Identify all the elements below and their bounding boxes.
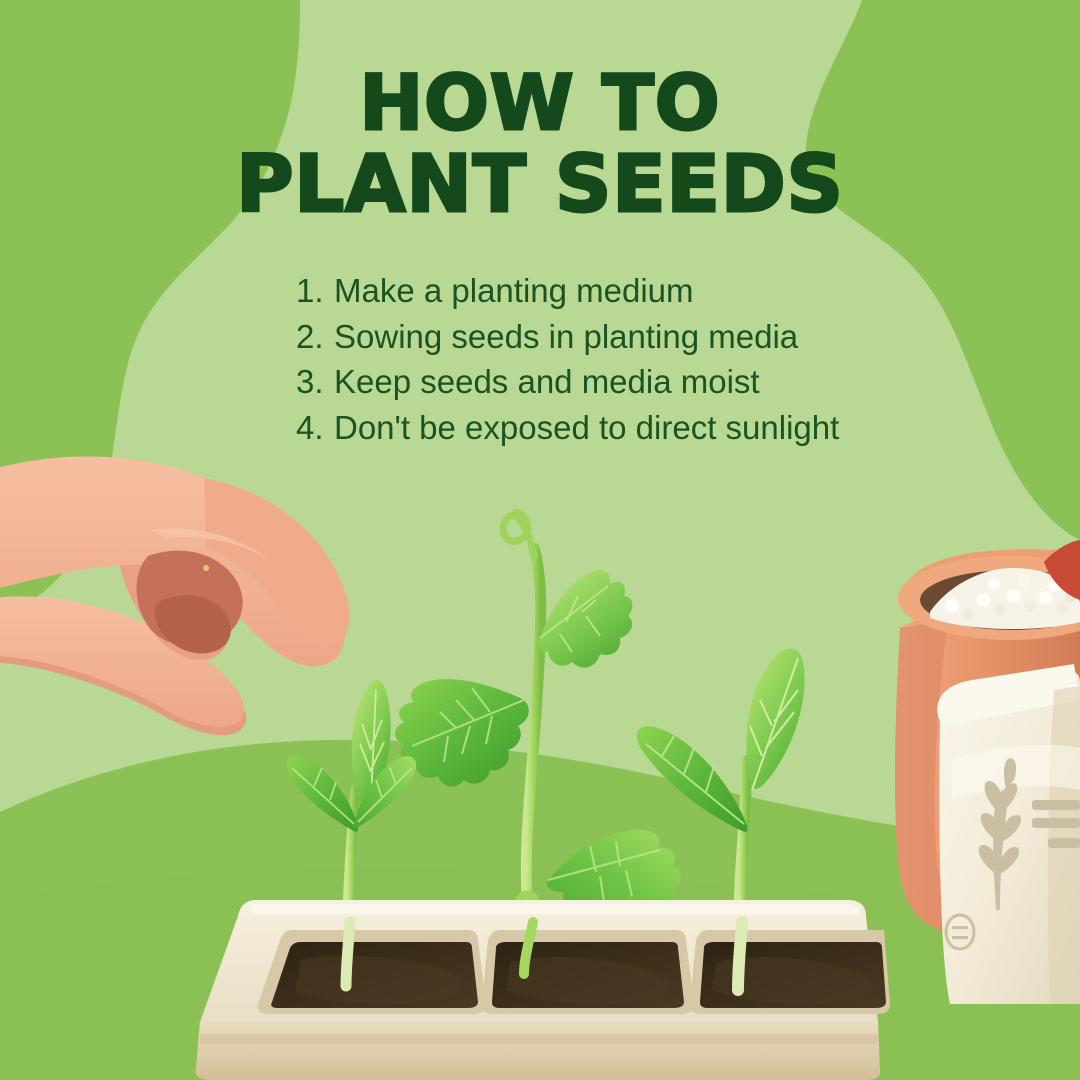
title-line-2: PLANT SEEDS bbox=[0, 144, 1080, 226]
step-number: 2. bbox=[296, 314, 334, 360]
infographic-poster: HOW TO PLANT SEEDS 1. Make a planting me… bbox=[0, 0, 1080, 1080]
title-line-1: HOW TO bbox=[0, 62, 1080, 144]
list-item: 4. Don't be exposed to direct sunlight bbox=[296, 405, 936, 451]
list-item: 3. Keep seeds and media moist bbox=[296, 359, 936, 405]
step-text: Sowing seeds in planting media bbox=[334, 314, 798, 360]
text-layer: HOW TO PLANT SEEDS 1. Make a planting me… bbox=[0, 0, 1080, 1080]
step-text: Don't be exposed to direct sunlight bbox=[334, 405, 839, 451]
step-text: Keep seeds and media moist bbox=[334, 359, 760, 405]
steps-list: 1. Make a planting medium 2. Sowing seed… bbox=[296, 268, 936, 450]
step-number: 3. bbox=[296, 359, 334, 405]
page-title: HOW TO PLANT SEEDS bbox=[0, 62, 1080, 226]
list-item: 2. Sowing seeds in planting media bbox=[296, 314, 936, 360]
list-item: 1. Make a planting medium bbox=[296, 268, 936, 314]
step-text: Make a planting medium bbox=[334, 268, 694, 314]
step-number: 1. bbox=[296, 268, 334, 314]
step-number: 4. bbox=[296, 405, 334, 451]
